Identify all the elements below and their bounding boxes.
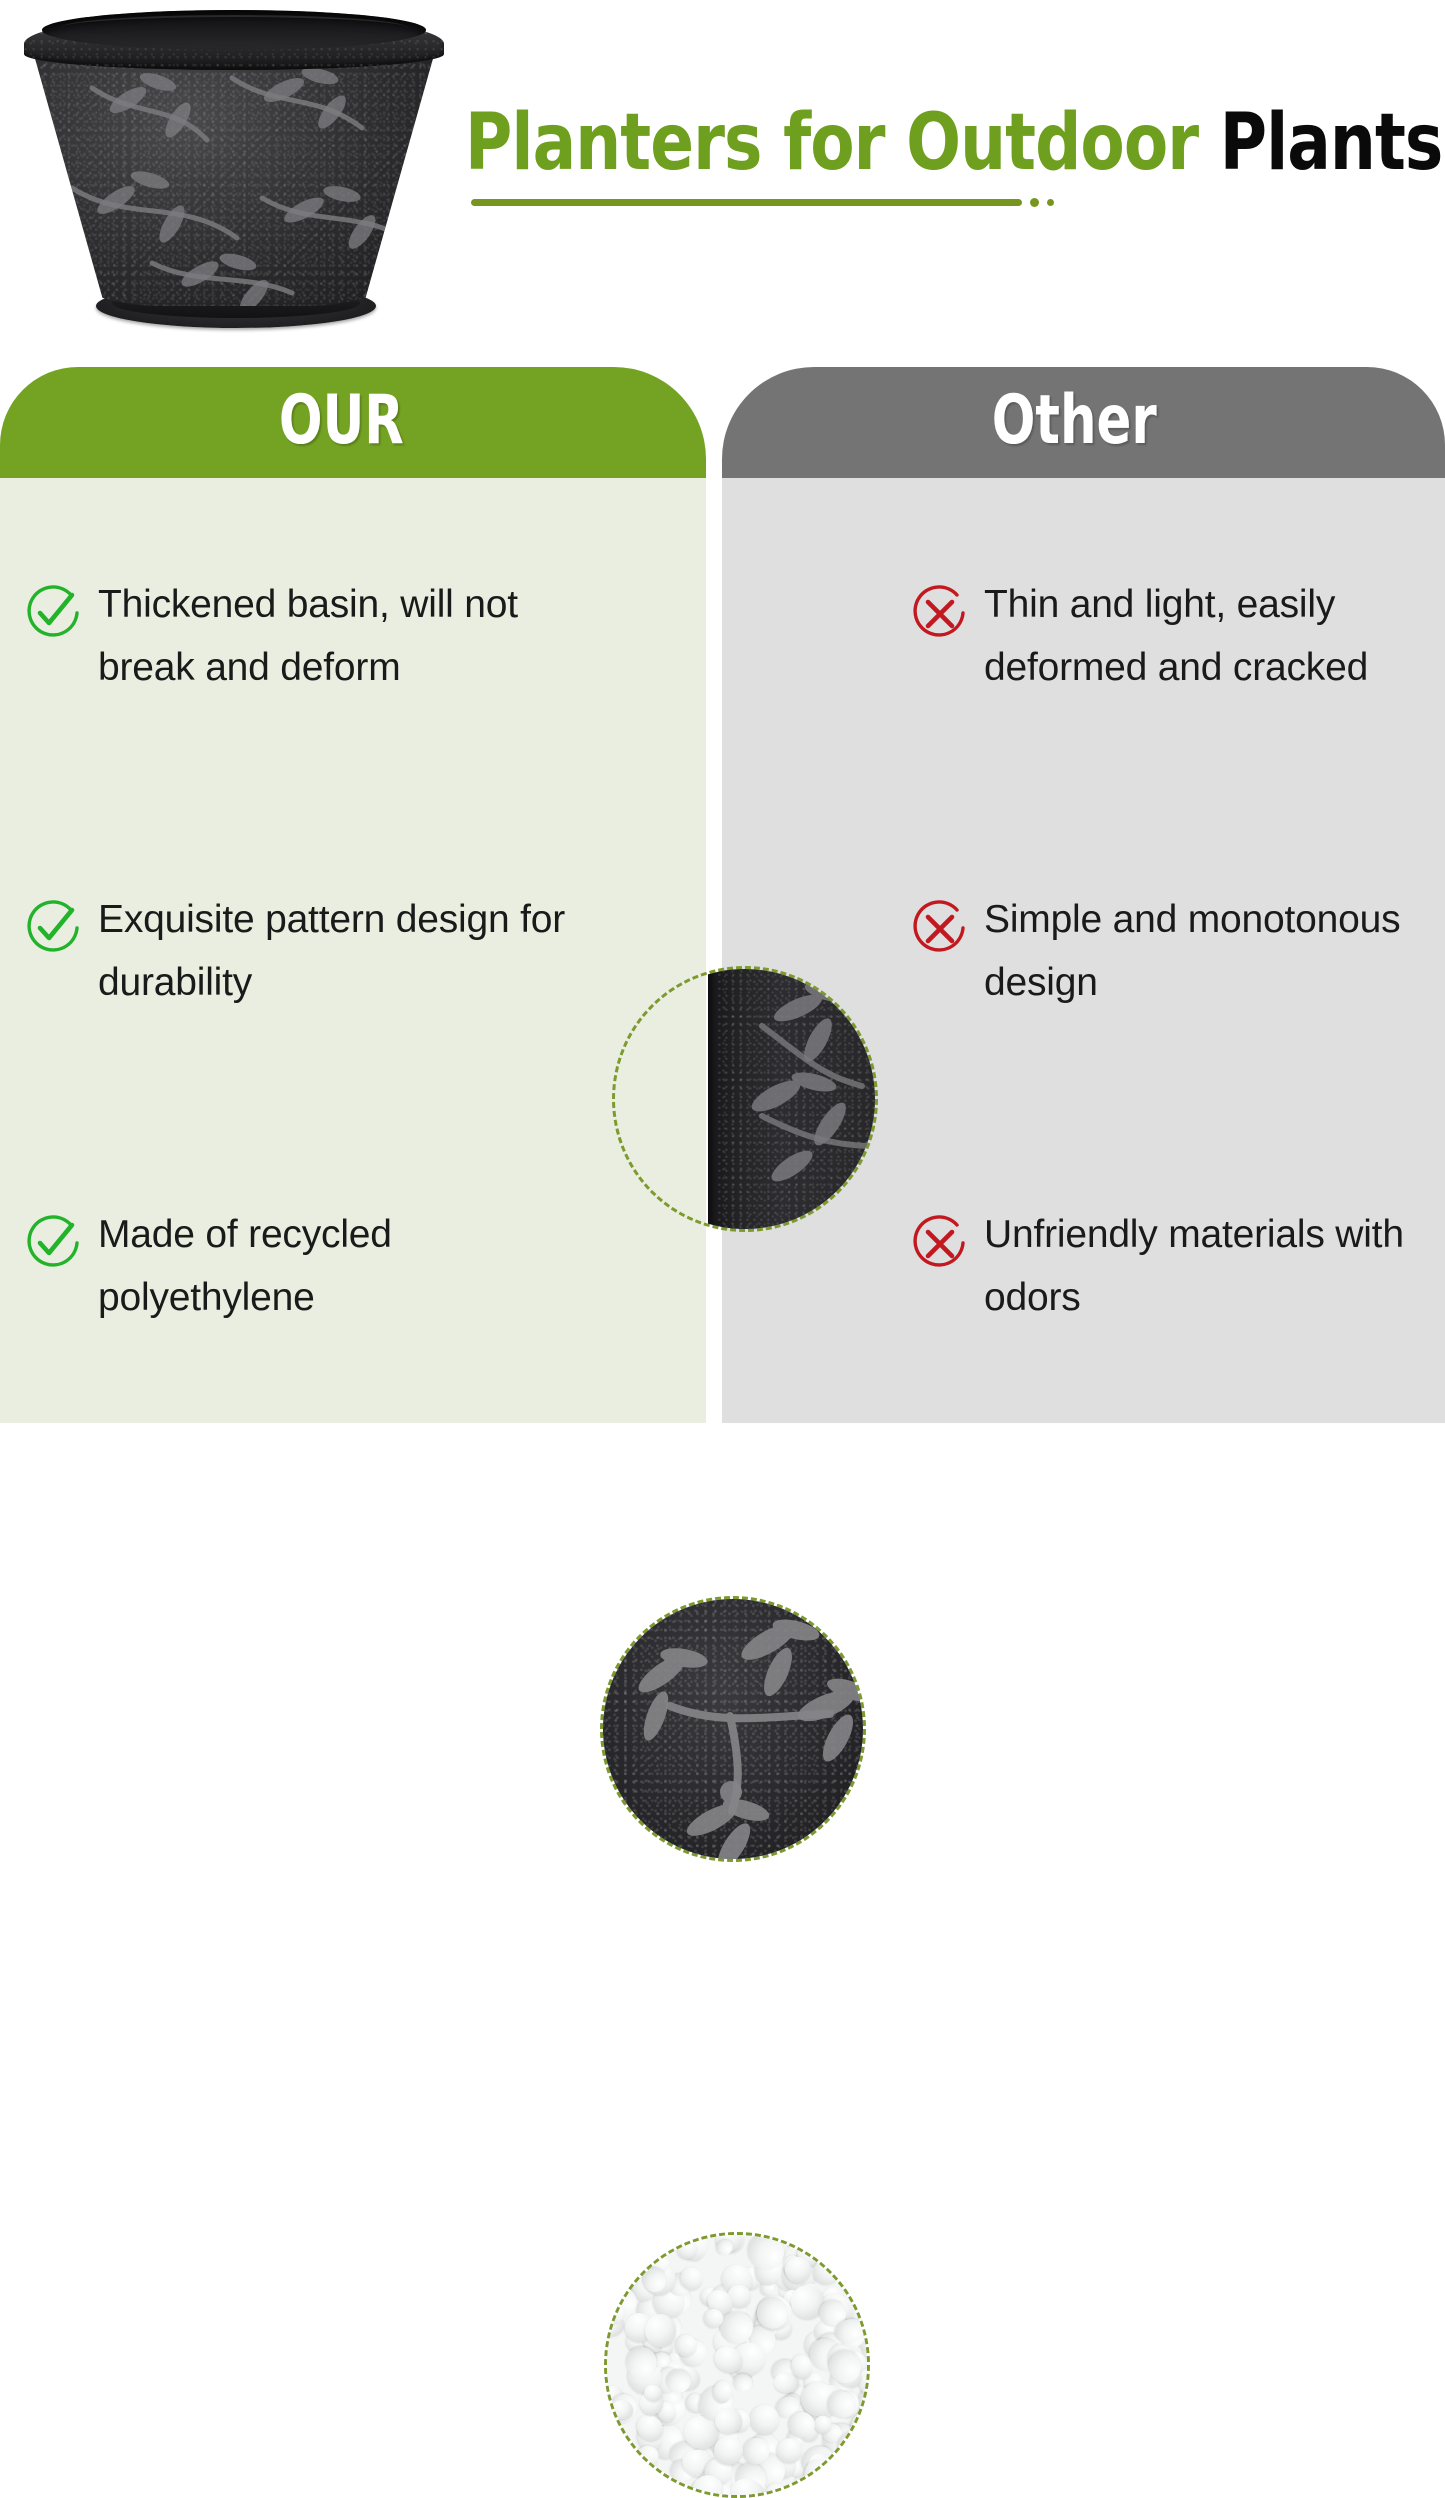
- our-feature-0: Thickened basin, will not break and defo…: [0, 478, 600, 793]
- our-feature-text: Thickened basin, will not break and defo…: [98, 573, 568, 699]
- title-underline-dot-small: [1047, 199, 1054, 206]
- feature-image-pellets: [604, 2232, 870, 2498]
- other-feature-1: Simple and monotonous design: [900, 793, 1445, 1108]
- pellet: [624, 2459, 651, 2493]
- cross-circle-icon: [908, 1212, 970, 1274]
- other-feature-text: Unfriendly materials with odors: [984, 1203, 1445, 1329]
- check-circle-icon: [22, 582, 84, 644]
- title-underline: [471, 198, 1054, 207]
- pattern-closeup-leaf-icon: [600, 1596, 866, 1862]
- feature-image-pellets-inner: [604, 2232, 870, 2498]
- other-feature-0: Thin and light, easily deformed and crac…: [900, 478, 1445, 793]
- feature-image-pattern-closeup: [600, 1596, 866, 1862]
- our-column-header-label: OUR: [278, 387, 403, 455]
- check-circle-icon: [22, 1212, 84, 1274]
- comparison-row: Exquisite pattern design for durability: [0, 793, 1445, 1108]
- top-banner: Planters for Outdoor Plants: [0, 0, 1445, 367]
- pellet: [625, 2346, 657, 2378]
- planter-leaf-pattern-icon: [32, 48, 436, 306]
- title-underline-bar: [471, 199, 1022, 206]
- cross-circle-icon: [908, 897, 970, 959]
- cross-circle-icon: [908, 582, 970, 644]
- pellet: [867, 2276, 870, 2307]
- product-hero-image: [8, 2, 460, 354]
- title-block: Planters for Outdoor Plants: [465, 95, 1430, 225]
- our-feature-1: Exquisite pattern design for durability: [0, 793, 600, 1108]
- other-feature-2: Unfriendly materials with odors: [900, 1108, 1445, 1423]
- our-feature-text: Made of recycled polyethylene: [98, 1203, 568, 1329]
- our-feature-2: Made of recycled polyethylene: [0, 1108, 600, 1423]
- our-column-header: OUR: [0, 367, 706, 478]
- feature-image-pattern-closeup-inner: [600, 1596, 866, 1862]
- other-feature-text: Simple and monotonous design: [984, 888, 1445, 1014]
- planter-body: [32, 48, 436, 306]
- other-feature-text: Thin and light, easily deformed and crac…: [984, 573, 1445, 699]
- our-feature-text: Exquisite pattern design for durability: [98, 888, 568, 1014]
- other-column-header: Other: [722, 367, 1445, 478]
- pellet: [715, 2408, 742, 2434]
- page-title-black: Plants: [1220, 98, 1443, 188]
- planter-illustration: [8, 2, 460, 354]
- comparison-row: Thickened basin, will not break and defo…: [0, 478, 1445, 793]
- planter-opening-highlight: [60, 15, 408, 41]
- page-title: Planters for Outdoor Plants: [465, 95, 1353, 191]
- page-title-green: Planters for Outdoor: [465, 98, 1220, 188]
- check-circle-icon: [22, 897, 84, 959]
- comparison-row: Made of recycled polyethylene Unfriendly…: [0, 1108, 1445, 1423]
- other-column-header-label: Other: [992, 387, 1157, 455]
- title-underline-dot-large: [1030, 198, 1039, 207]
- comparison-section: OUR Other Thickened basin, will not brea…: [0, 367, 1445, 1423]
